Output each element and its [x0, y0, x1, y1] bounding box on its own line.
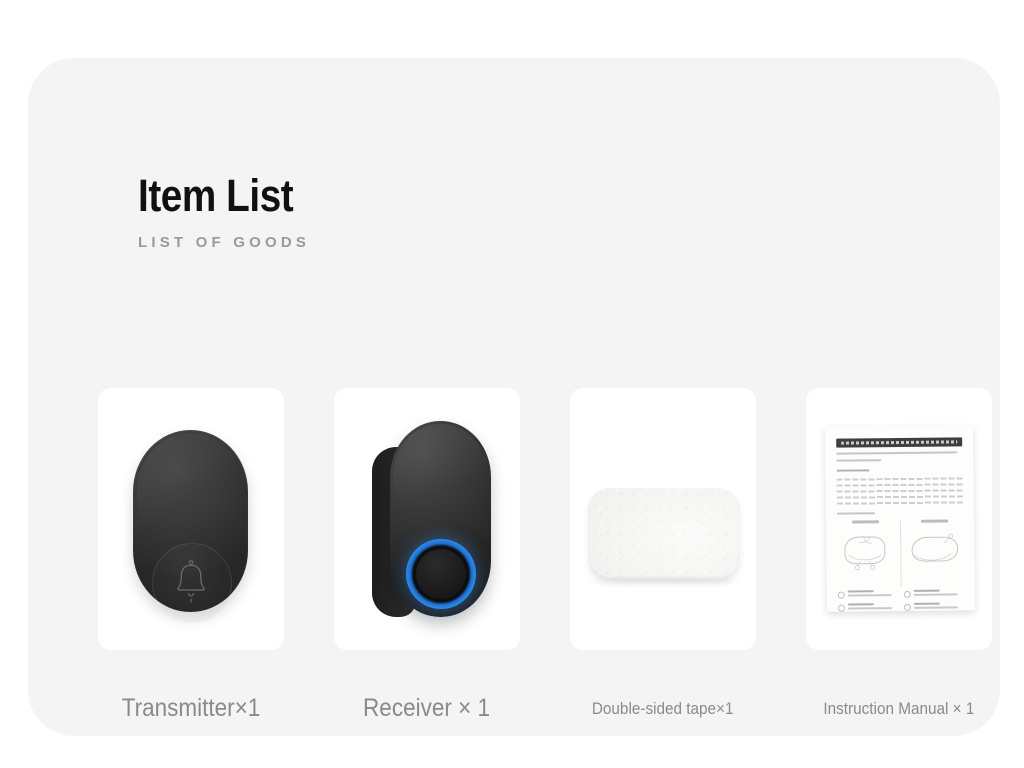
page-title: Item List — [138, 173, 293, 218]
adhesive-tape-pad-icon — [588, 488, 740, 580]
item-label: Instruction Manual × 1 — [824, 650, 975, 719]
led-ring-icon — [406, 539, 476, 609]
list-item-receiver[interactable]: Receiver × 1 — [334, 388, 520, 723]
manual-diagrams — [837, 519, 964, 586]
legend-text — [848, 590, 898, 597]
receiver-body — [390, 421, 491, 617]
item-label: Double-sided tape×1 — [592, 650, 734, 719]
manual-diagram-left — [837, 520, 895, 587]
manual-text-line — [836, 451, 957, 454]
product-tile — [98, 388, 284, 650]
item-label: Transmitter×1 — [122, 650, 261, 723]
manual-section-heading — [837, 512, 875, 514]
doorbell-receiver-icon — [364, 413, 492, 625]
diagram-label — [921, 520, 947, 523]
legend-number-icon — [904, 591, 911, 598]
manual-legend — [838, 589, 964, 611]
legend-number-icon — [838, 592, 845, 599]
legend-entry — [904, 589, 964, 598]
legend-text — [914, 602, 964, 609]
page-subtitle: LIST OF GOODS — [138, 234, 319, 251]
legend-entry — [904, 602, 964, 611]
bell-icon — [169, 558, 213, 604]
manual-text-line — [836, 459, 881, 461]
legend-text — [848, 603, 898, 610]
item-list-card: Item List LIST OF GOODS — [28, 58, 1000, 736]
product-tile — [334, 388, 520, 650]
manual-diagram-right — [900, 519, 964, 586]
product-tile — [806, 388, 992, 650]
list-item-transmitter[interactable]: Transmitter×1 — [98, 388, 284, 723]
product-tile — [570, 388, 756, 650]
item-label: Receiver × 1 — [364, 650, 491, 723]
heading-block: Item List LIST OF GOODS — [138, 173, 319, 251]
device-drawing — [906, 526, 963, 573]
items-row: Transmitter×1 Receiver × 1 Double-sided … — [98, 388, 988, 723]
legend-entry — [838, 590, 898, 599]
legend-number-icon — [904, 604, 911, 611]
legend-entry — [838, 603, 898, 612]
legend-number-icon — [838, 605, 845, 612]
doorbell-transmitter-icon — [133, 430, 248, 612]
manual-title-bar — [836, 437, 962, 447]
manual-paragraph-block — [837, 477, 963, 505]
diagram-label — [852, 520, 878, 523]
legend-text — [914, 589, 964, 596]
instruction-manual-sheet-icon — [825, 425, 975, 612]
manual-section-heading — [836, 469, 869, 471]
device-drawing — [837, 527, 894, 574]
list-item-double-sided-tape[interactable]: Double-sided tape×1 — [570, 388, 756, 723]
list-item-instruction-manual[interactable]: Instruction Manual × 1 — [806, 388, 992, 723]
